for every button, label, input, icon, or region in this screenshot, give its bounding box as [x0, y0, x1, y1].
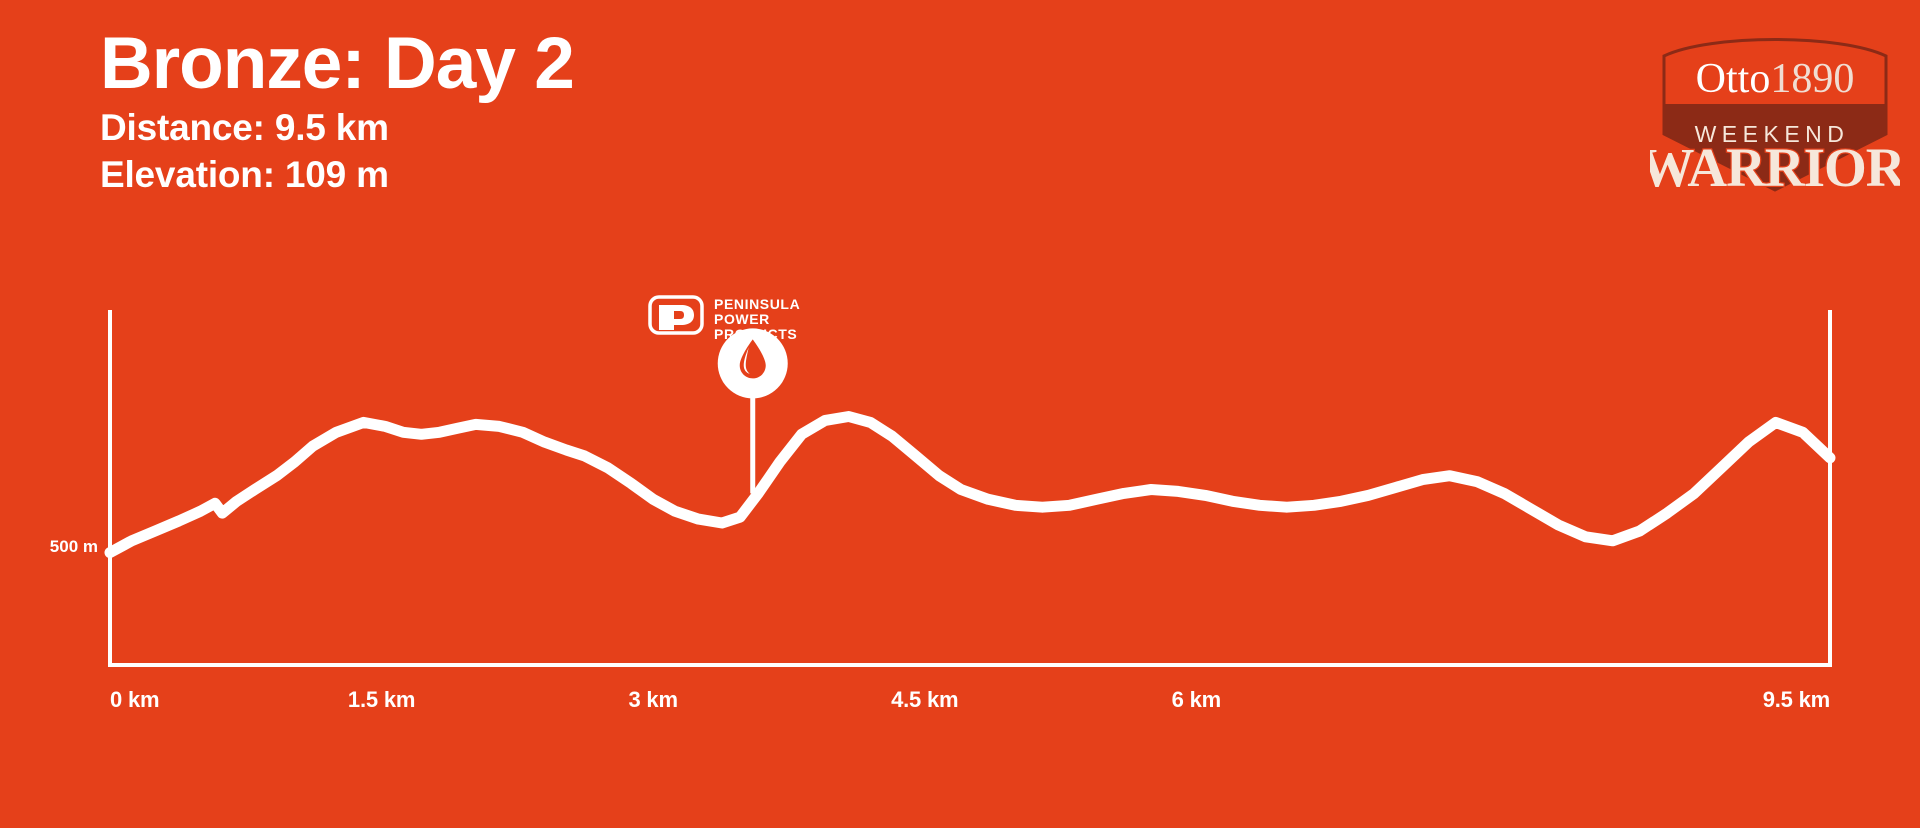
sponsor-line-2: POWER [714, 311, 770, 327]
x-axis-tick-label: 1.5 km [348, 687, 415, 713]
badge-brand-text: Otto1890 [1696, 56, 1855, 102]
y-axis-tick-label: 500 m [50, 537, 98, 557]
page-title: Bronze: Day 2 [100, 28, 1000, 100]
badge-brand-otto: Otto [1696, 56, 1771, 102]
badge-warrior-text: WARRIOR [1650, 137, 1900, 198]
x-axis-tick-label: 4.5 km [891, 687, 958, 713]
x-axis-tick-label: 3 km [628, 687, 677, 713]
header-block: Bronze: Day 2 Distance: 9.5 km Elevation… [100, 28, 1000, 198]
water-drop-icon [740, 339, 766, 378]
sponsor-logo: PENINSULA POWER PRODUCTS [648, 292, 848, 340]
x-axis-tick-label: 9.5 km [1763, 687, 1830, 713]
chart-axes [110, 310, 1830, 665]
elevation-stat: Elevation: 109 m [100, 151, 1000, 198]
x-axis-tick-label: 6 km [1172, 687, 1221, 713]
elevation-profile-line [110, 417, 1830, 553]
distance-stat: Distance: 9.5 km [100, 104, 1000, 151]
sponsor-line-3: PRODUCTS [714, 326, 797, 340]
sponsor-line-1: PENINSULA [714, 296, 800, 312]
badge-brand-year: 1890 [1770, 56, 1854, 102]
brand-badge: Otto1890 WEEKEND WARRIOR [1650, 22, 1900, 202]
sponsor-mark-letter-p [659, 305, 694, 330]
sponsor-mark-frame [650, 297, 702, 333]
x-axis-tick-label: 0 km [110, 687, 159, 713]
